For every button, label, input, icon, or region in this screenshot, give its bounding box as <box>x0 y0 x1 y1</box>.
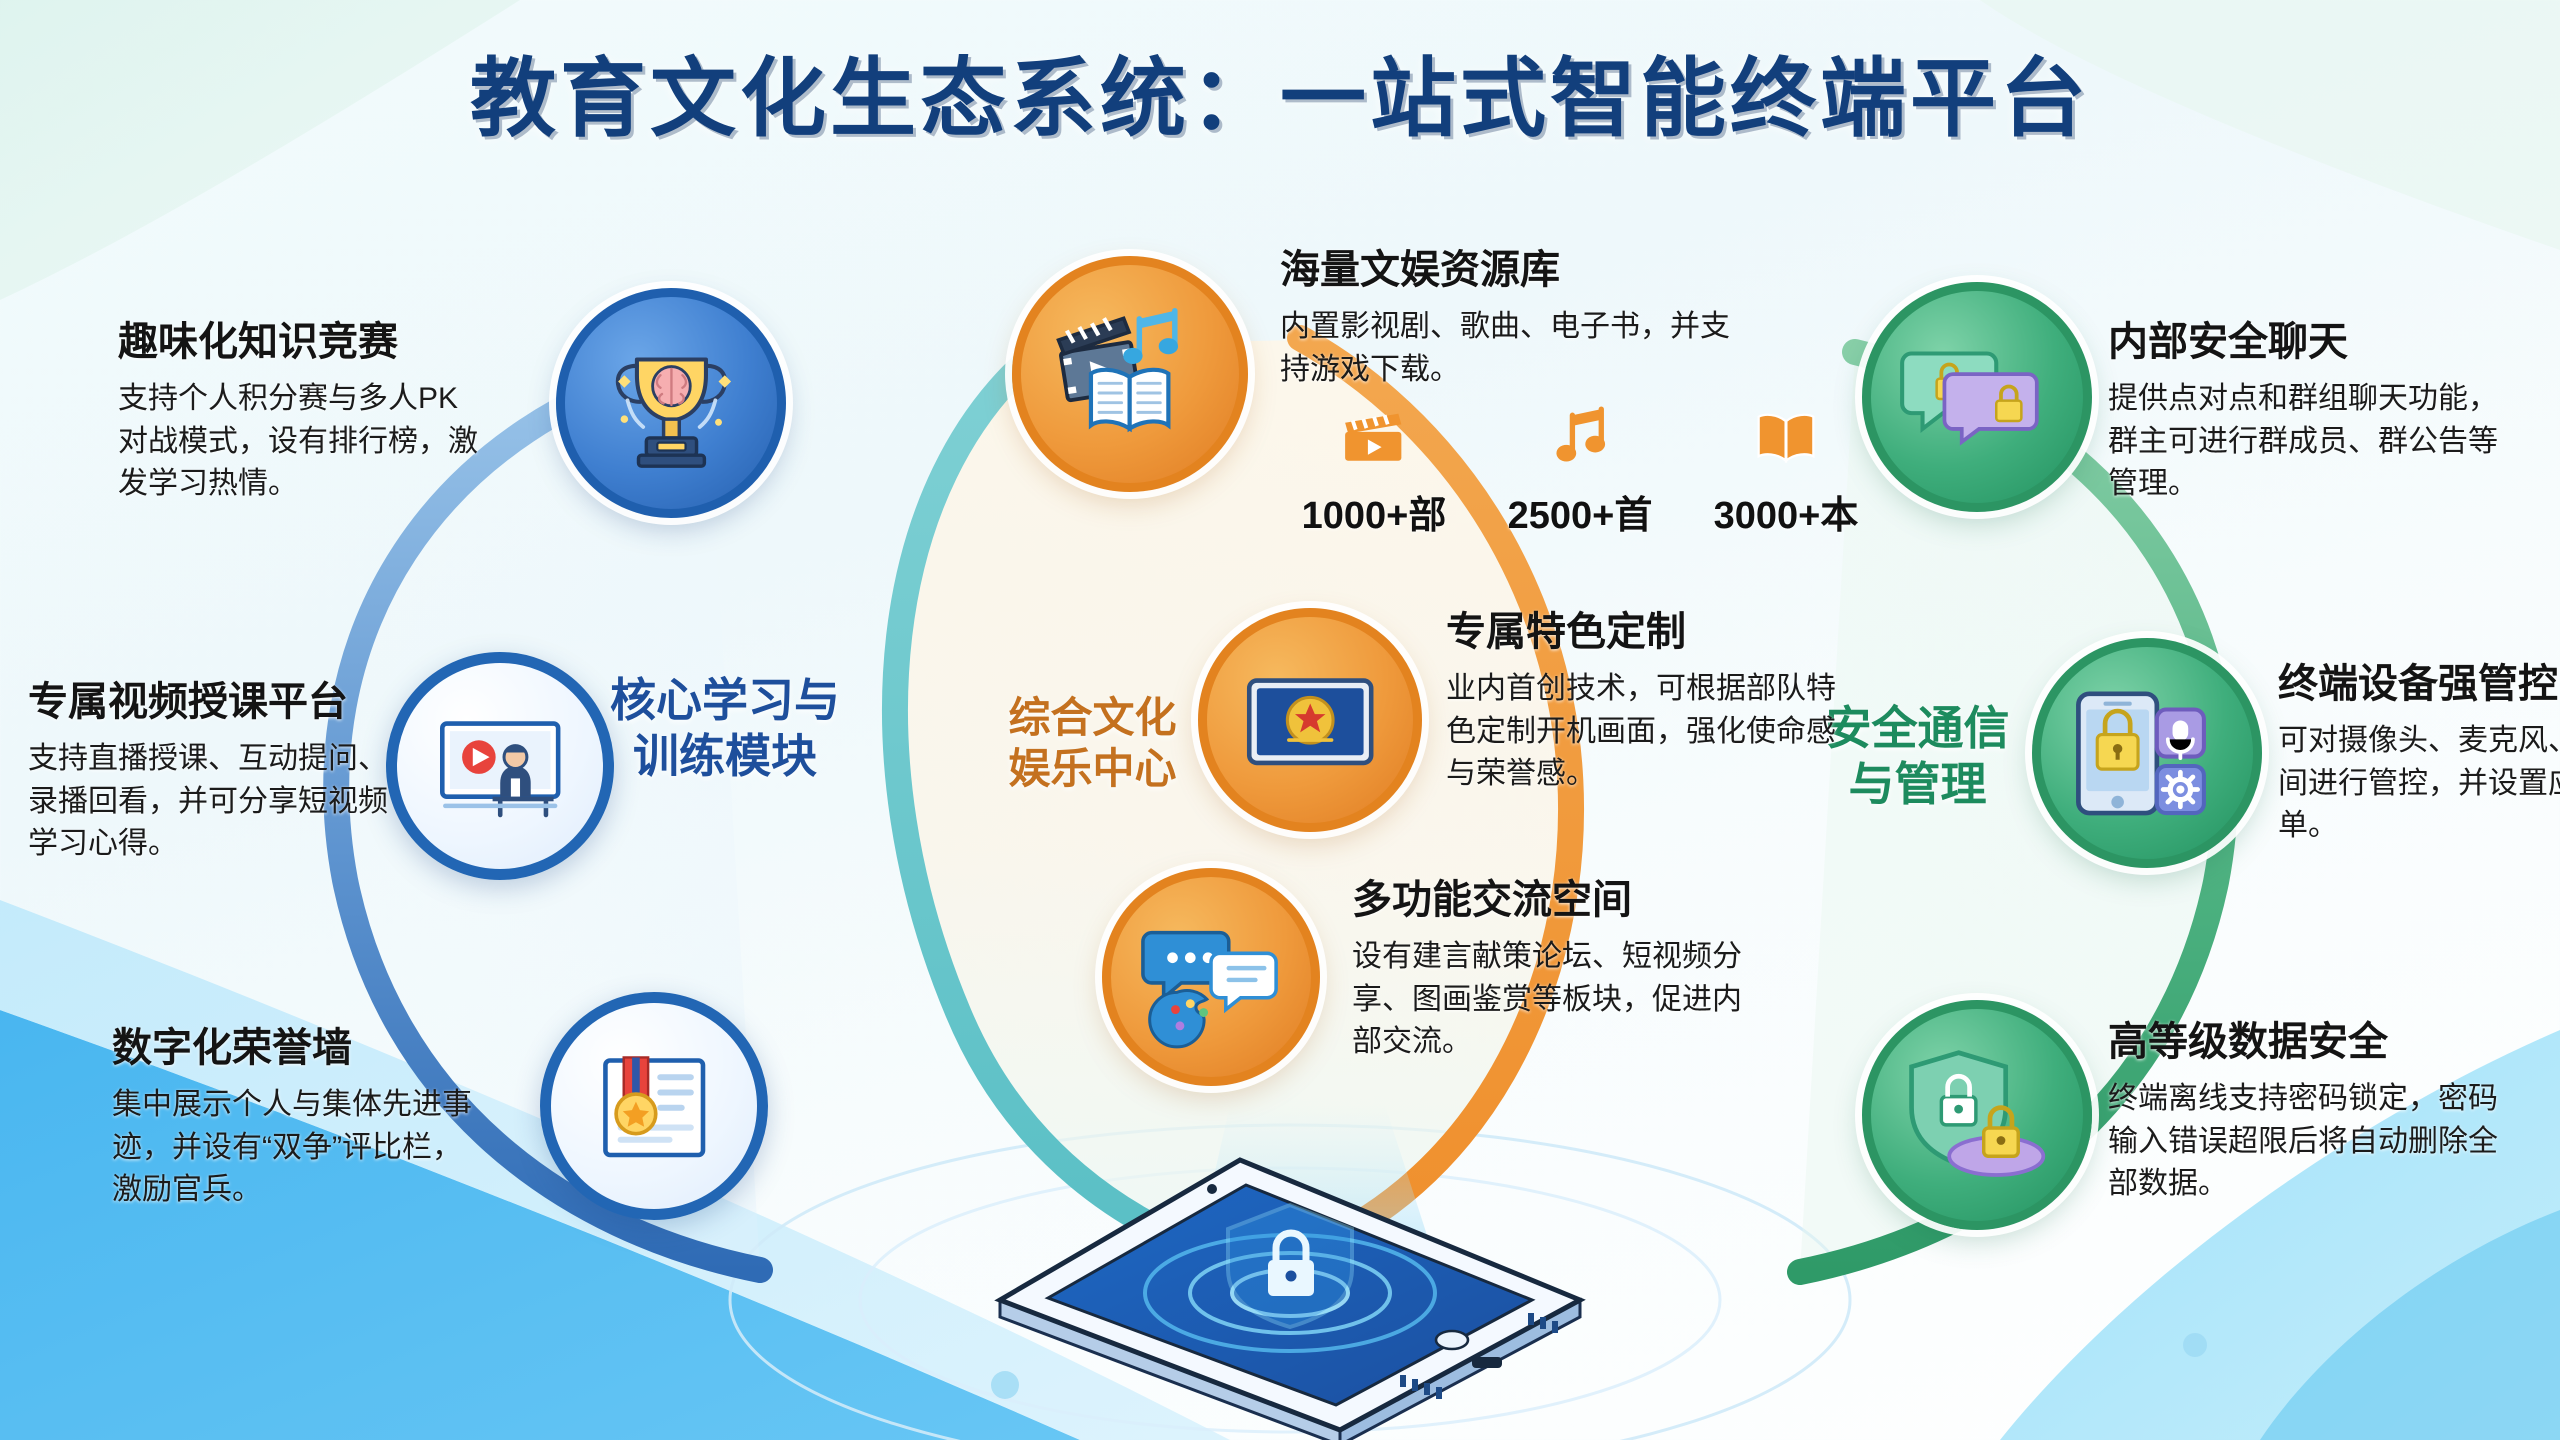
stats-row: 1000+部 2500+首 3000+本 <box>1288 398 1872 539</box>
feature-title-control: 终端设备强管控 <box>2278 660 2560 708</box>
node-icon-video[interactable] <box>386 652 614 880</box>
node-icon-quiz[interactable] <box>556 288 786 518</box>
feature-body-control: 可对摄像头、麦克风、使用时间进行管控，并设置应用白名单。 <box>2278 720 2560 848</box>
movie-clapper-icon <box>1336 398 1412 476</box>
page-title: 教育文化生态系统：一站式智能终端平台 <box>0 28 2560 153</box>
center-device <box>980 1085 1600 1440</box>
open-book-icon <box>1748 398 1824 476</box>
node-icon-honor[interactable] <box>540 992 768 1220</box>
feature-block-library: 海量文娱资源库 内置影视剧、歌曲、电子书，并支持游戏下载。 <box>1280 246 1750 391</box>
stat-value-movies: 1000+部 <box>1302 484 1447 539</box>
page-title-wrap: 教育文化生态系统：一站式智能终端平台 <box>0 28 2560 153</box>
feature-title-data: 高等级数据安全 <box>2108 1018 2508 1066</box>
feature-title-forum: 多功能交流空间 <box>1352 876 1752 924</box>
chat-palette-icon <box>1137 903 1285 1051</box>
feature-body-chat: 提供点对点和群组聊天功能，群主可进行群成员、群公告等管理。 <box>2108 378 2508 506</box>
stat-value-books: 3000+本 <box>1714 484 1859 539</box>
node-icon-control[interactable] <box>2032 638 2262 868</box>
group-label-media: 综合文化 娱乐中心 <box>985 692 1200 794</box>
stat-item-movies: 1000+部 <box>1288 398 1460 539</box>
feature-title-library: 海量文娱资源库 <box>1280 246 1750 294</box>
feature-body-custom: 业内首创技术，可根据部队特色定制开机画面，强化使命感与荣誉感。 <box>1446 668 1846 796</box>
secure-chat-lock-icon <box>1899 319 2056 476</box>
feature-block-chat: 内部安全聊天 提供点对点和群组聊天功能，群主可进行群成员、群公告等管理。 <box>2108 318 2508 506</box>
feature-block-video: 专属视频授课平台 支持直播授课、互动提问、录播回看，并可分享短视频学习心得。 <box>28 678 388 866</box>
tablet-shield-lock-icon <box>980 1085 1600 1440</box>
trophy-brain-icon <box>593 325 750 482</box>
stat-item-songs: 2500+首 <box>1494 398 1666 539</box>
stat-item-books: 3000+本 <box>1700 398 1872 539</box>
feature-title-custom: 专属特色定制 <box>1446 608 1846 656</box>
feature-block-forum: 多功能交流空间 设有建言献策论坛、短视频分享、图画鉴赏等板块，促进内部交流。 <box>1352 876 1752 1064</box>
feature-block-quiz: 趣味化知识竞赛 支持个人积分赛与多人PK对战模式，设有排行榜，激发学习热情。 <box>118 318 478 506</box>
group-label-core: 核心学习与 训练模块 <box>600 672 850 784</box>
node-icon-data[interactable] <box>1862 1000 2092 1230</box>
film-music-book-icon <box>1049 293 1210 454</box>
feature-block-honor: 数字化荣誉墙 集中展示个人与集体先进事迹，并设有“双争”评比栏，激励官兵。 <box>112 1024 472 1212</box>
infographic-stage: 核心学习与 训练模块 综合文化 娱乐中心 安全通信 与管理 趣味化知识竞赛 支持… <box>0 0 2560 1440</box>
feature-block-custom: 专属特色定制 业内首创技术，可根据部队特色定制开机画面，强化使命感与荣誉感。 <box>1446 608 1846 796</box>
feature-body-quiz: 支持个人积分赛与多人PK对战模式，设有排行榜，激发学习热情。 <box>118 378 478 506</box>
music-note-icon <box>1542 398 1618 476</box>
node-icon-library[interactable] <box>1012 256 1248 492</box>
shield-lock-icon <box>1899 1037 2056 1194</box>
medal-certificate-icon <box>578 1030 730 1182</box>
feature-body-library: 内置影视剧、歌曲、电子书，并支持游戏下载。 <box>1280 306 1750 391</box>
feature-body-forum: 设有建言献策论坛、短视频分享、图画鉴赏等板块，促进内部交流。 <box>1352 936 1752 1064</box>
node-icon-custom[interactable] <box>1198 608 1422 832</box>
tablet-emblem-icon <box>1234 644 1386 796</box>
feature-block-data: 高等级数据安全 终端离线支持密码锁定，密码输入错误超限后将自动删除全部数据。 <box>2108 1018 2508 1206</box>
feature-block-control: 终端设备强管控 可对摄像头、麦克风、使用时间进行管控，并设置应用白名单。 <box>2278 660 2560 848</box>
stat-value-songs: 2500+首 <box>1508 484 1653 539</box>
feature-title-honor: 数字化荣誉墙 <box>112 1024 472 1072</box>
node-icon-chat[interactable] <box>1862 282 2092 512</box>
feature-body-honor: 集中展示个人与集体先进事迹，并设有“双争”评比栏，激励官兵。 <box>112 1084 472 1212</box>
feature-body-video: 支持直播授课、互动提问、录播回看，并可分享短视频学习心得。 <box>28 738 388 866</box>
feature-title-quiz: 趣味化知识竞赛 <box>118 318 478 366</box>
node-icon-forum[interactable] <box>1102 868 1320 1086</box>
device-control-icon <box>2069 675 2226 832</box>
video-lecture-icon <box>424 690 576 842</box>
feature-title-chat: 内部安全聊天 <box>2108 318 2508 366</box>
feature-title-video: 专属视频授课平台 <box>28 678 388 726</box>
feature-body-data: 终端离线支持密码锁定，密码输入错误超限后将自动删除全部数据。 <box>2108 1078 2508 1206</box>
